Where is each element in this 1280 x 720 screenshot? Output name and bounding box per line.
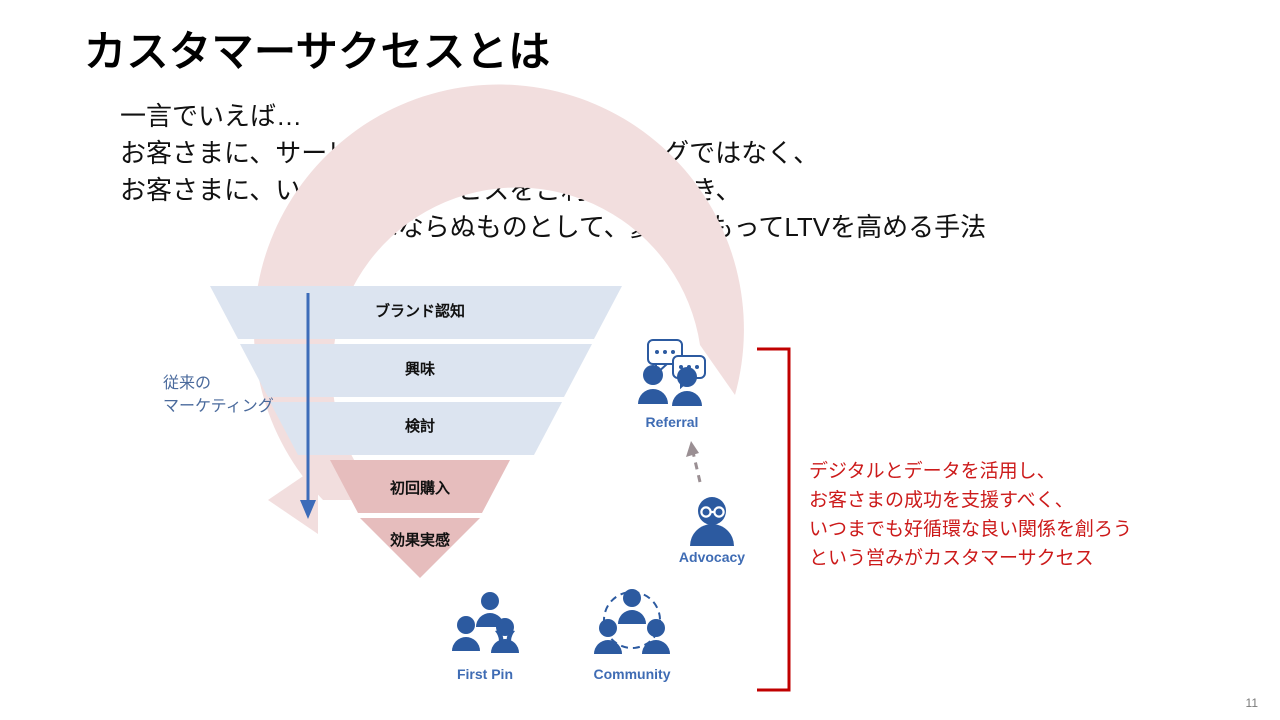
annotation-line-2: お客さまの成功を支援すべく、 bbox=[809, 486, 1132, 515]
body-line-3: お客さまに、いつまでもサービスをご利用いただき、 bbox=[120, 172, 1240, 209]
funnel-stage-1-label: ブランド認知 bbox=[300, 300, 540, 321]
three-people-icon bbox=[452, 592, 519, 653]
page-number: 11 bbox=[1246, 696, 1258, 710]
cycle-node-label-community: Community bbox=[562, 666, 702, 682]
funnel-stage-5-label: 効果実感 bbox=[340, 529, 500, 550]
legacy-marketing-label-line2: マーケティング bbox=[163, 398, 274, 415]
funnel-stage-2-label: 興味 bbox=[300, 358, 540, 379]
funnel-stage-3-label: 検討 bbox=[300, 415, 540, 436]
red-bracket-icon bbox=[757, 349, 789, 690]
annotation-line-3: いつまでも好循環な良い関係を創ろう bbox=[809, 515, 1132, 544]
legacy-marketing-label-line1: 従来の bbox=[163, 375, 211, 392]
page-title: カスタマーサクセスとは bbox=[84, 18, 551, 79]
funnel-stage-4-label: 初回購入 bbox=[330, 477, 510, 498]
legacy-marketing-arrow-icon bbox=[300, 293, 316, 519]
three-people-dashed-circle-icon bbox=[594, 589, 670, 654]
cycle-node-label-advocacy: Advocacy bbox=[642, 549, 782, 565]
annotation-line-1: デジタルとデータを活用し、 bbox=[809, 457, 1132, 486]
annotation-text: デジタルとデータを活用し、 お客さまの成功を支援すべく、 いつまでも好循環な良い… bbox=[809, 457, 1132, 573]
body-line-1: 一言でいえば… bbox=[120, 98, 1240, 135]
person-glasses-icon bbox=[690, 497, 734, 546]
cycle-node-label-referral: Referral bbox=[602, 414, 742, 430]
annotation-line-4: という営みがカスタマーサクセス bbox=[809, 544, 1132, 573]
advocacy-to-referral-arrow-icon bbox=[686, 441, 700, 482]
cycle-node-label-first-pin: First Pin bbox=[415, 666, 555, 682]
body-paragraph: 一言でいえば… お客さまに、サービスを売り込むマーケティングではなく、 お客さま… bbox=[120, 98, 1240, 246]
legacy-marketing-label: 従来の マーケティング bbox=[163, 372, 274, 418]
slide-canvas: カスタマーサクセスとは 一言でいえば… お客さまに、サービスを売り込むマーケティ… bbox=[0, 0, 1280, 720]
body-line-4: なくてはならぬものとして、愛着をもってLTVを高める手法 bbox=[120, 209, 1240, 246]
body-line-2: お客さまに、サービスを売り込むマーケティングではなく、 bbox=[120, 135, 1240, 172]
two-people-speech-bubbles-icon bbox=[638, 340, 705, 406]
